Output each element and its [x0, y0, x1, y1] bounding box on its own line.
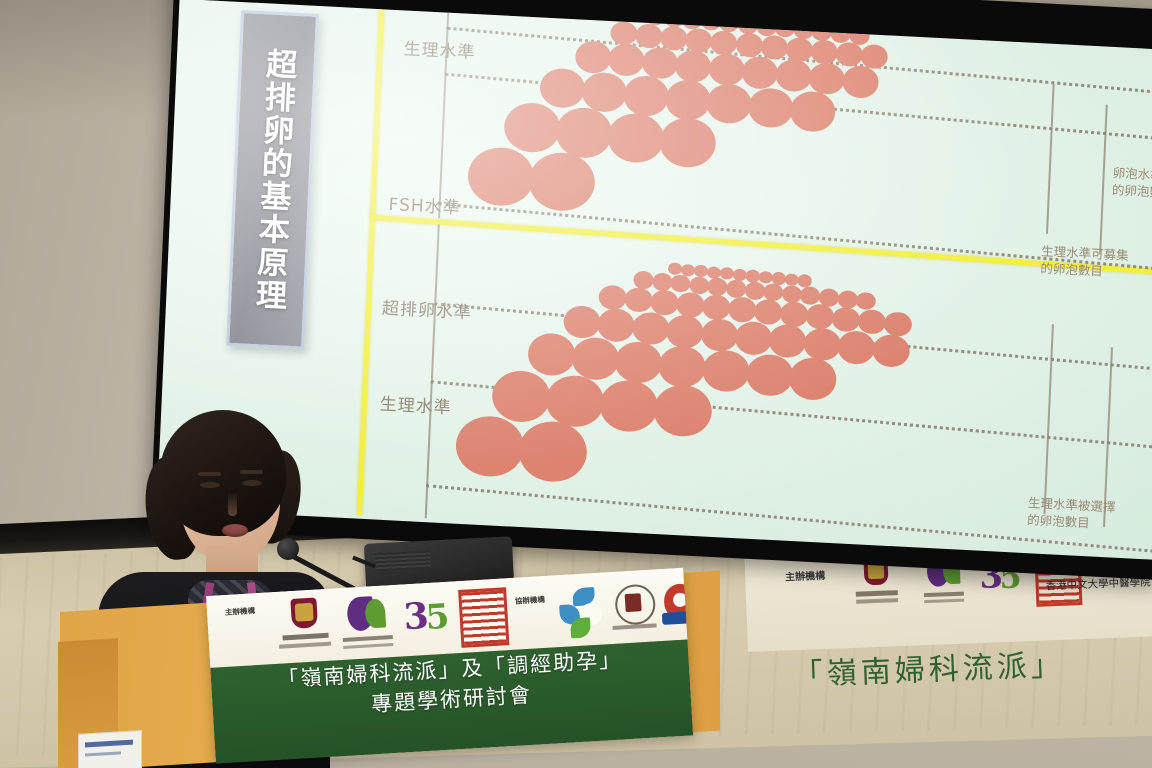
- follicle-bubble: [810, 40, 838, 65]
- follicle-bubble: [528, 151, 596, 212]
- follicle-bubble: [658, 345, 707, 389]
- cuhk-logo: [276, 597, 331, 660]
- follicle-bubble: [598, 285, 627, 311]
- podium-cohost-label: 協辦機構: [515, 594, 546, 607]
- wall-banner-host-label: 主辦機構: [785, 567, 826, 584]
- follicle-bubble: [745, 353, 794, 397]
- follicle-bubble: [832, 306, 861, 332]
- follicle-bubble: [610, 21, 638, 46]
- follicle-bubble: [539, 67, 586, 109]
- follicle-bubble: [623, 75, 670, 117]
- follicle-bubble: [800, 287, 821, 306]
- mouth: [222, 524, 248, 537]
- follicle-bubble: [575, 40, 612, 73]
- follicle-bubble: [835, 42, 863, 67]
- follicle-bubble: [652, 384, 712, 438]
- follicle-bubble: [754, 299, 783, 325]
- screenshot-root: 主辦機構 3 5 香港中文大學中醫學院: [0, 0, 1152, 768]
- follicle-bubble: [734, 321, 772, 355]
- follicle-bubble: [608, 43, 645, 76]
- eyebrow-left: [198, 472, 221, 476]
- follicle-bubble: [769, 324, 807, 358]
- monitor-vent: [374, 550, 431, 571]
- follicle-bubble: [503, 102, 561, 154]
- follicle-bubble: [872, 334, 910, 368]
- follicle-bubble: [650, 289, 679, 315]
- follicle-bubble: [455, 414, 526, 477]
- follicle-bubble: [581, 71, 628, 113]
- follicle-bubble: [563, 305, 601, 339]
- follicle-bubble: [702, 294, 731, 320]
- follicle-bubble: [858, 309, 887, 335]
- follicle-bubble: [726, 280, 747, 299]
- follicle-bubble: [685, 28, 713, 53]
- follicle-bubble: [660, 25, 688, 50]
- follicle-bubble: [633, 271, 654, 290]
- podium-paper-sign: [78, 730, 142, 768]
- follicle-bubble: [624, 287, 653, 313]
- nose: [228, 492, 237, 516]
- follicle-bubble: [710, 30, 738, 55]
- follicle-bubble: [675, 50, 712, 83]
- follicle-bubble: [676, 292, 705, 318]
- follicle-bubble: [884, 311, 913, 337]
- follicle-bubble: [785, 37, 813, 62]
- follicle-bubble: [808, 62, 845, 95]
- follicle-bubble: [527, 333, 576, 377]
- follicle-bubble: [748, 87, 795, 129]
- follicle-bubble: [700, 318, 738, 352]
- follicle-bubble: [781, 285, 802, 304]
- follicle-bubble: [599, 379, 659, 433]
- follicle-bubble: [597, 308, 635, 342]
- follicle-bubble: [760, 35, 788, 60]
- follicle-bubble: [631, 311, 669, 345]
- eyebrow-right: [240, 470, 263, 474]
- follicle-bubble: [728, 297, 757, 323]
- follicle-bubble: [491, 369, 551, 423]
- follicle-bubble: [803, 327, 841, 361]
- eye-right: [242, 480, 262, 486]
- follicle-bubble: [780, 302, 809, 328]
- follicle-bubble: [666, 314, 704, 348]
- follicle-bubble: [641, 47, 678, 80]
- follicle-bubble: [856, 292, 877, 311]
- follicle-bubble: [545, 374, 605, 428]
- hair-top: [160, 410, 286, 536]
- podium-host-label: 主辦機構: [225, 605, 256, 618]
- follicle-bubble: [518, 420, 589, 483]
- follicle-bubble: [607, 112, 665, 164]
- podium-banner: 主辦機構 3 5 協辦機構: [206, 568, 693, 764]
- circular-seal-logo: [610, 583, 657, 636]
- follicle-bubble: [571, 337, 620, 381]
- cu-medicine-logo: [340, 595, 393, 656]
- follicle-bubble: [659, 116, 717, 168]
- follicle-bubble: [701, 349, 750, 393]
- microphone-head: [277, 538, 299, 560]
- follicle-bubble: [706, 83, 753, 125]
- follicle-bubble: [664, 79, 711, 121]
- anniversary-35-logo: 3 5: [402, 594, 453, 649]
- red-seal-logo: [458, 587, 509, 648]
- follicle-bubble: [742, 56, 779, 89]
- follicle-bubble: [635, 23, 663, 48]
- follicle-bubble: [555, 107, 613, 159]
- follicle-bubble: [806, 304, 835, 330]
- follicle-bubble: [614, 341, 663, 385]
- follicle-bubble: [735, 32, 763, 57]
- follicle-bubble: [837, 331, 875, 365]
- follicle-bubble: [670, 274, 691, 293]
- follicle-bubble: [842, 65, 879, 98]
- follicle-bubble: [708, 53, 745, 86]
- follicle-bubble: [837, 290, 858, 309]
- follicle-bubble: [798, 274, 813, 287]
- follicle-bubble: [789, 357, 838, 401]
- follicle-bubble: [707, 278, 728, 297]
- follicle-bubble: [789, 91, 836, 133]
- eye-left: [200, 482, 220, 488]
- follicle-bubble: [652, 273, 673, 292]
- leaf-blue-green-logo: [558, 587, 603, 639]
- follicle-bubble: [775, 59, 812, 92]
- follicle-bubble: [467, 146, 535, 207]
